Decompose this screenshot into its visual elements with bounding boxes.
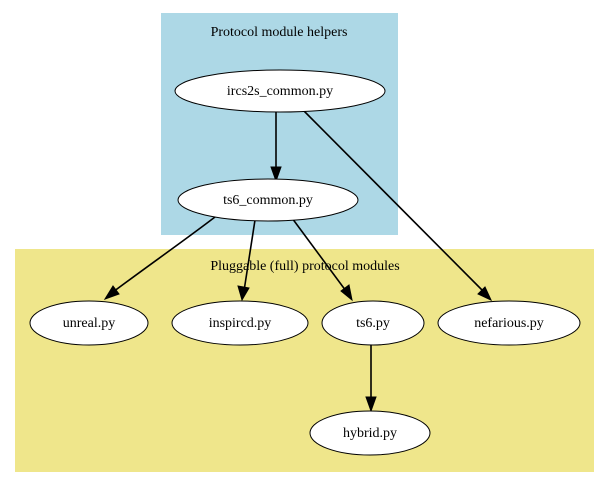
- node-ircs2s-common[interactable]: ircs2s_common.py: [175, 70, 385, 112]
- node-label: nefarious.py: [474, 316, 544, 331]
- protocol-module-graph: Protocol module helpers Pluggable (full)…: [0, 0, 609, 490]
- node-hybrid[interactable]: hybrid.py: [310, 411, 430, 455]
- node-label: unreal.py: [63, 316, 115, 331]
- node-unreal[interactable]: unreal.py: [30, 301, 148, 345]
- node-label: inspircd.py: [209, 316, 272, 331]
- cluster-pluggable-protocol-modules: Pluggable (full) protocol modules: [15, 249, 594, 472]
- node-label: ts6_common.py: [223, 193, 313, 208]
- cluster-helpers-label: Protocol module helpers: [211, 25, 348, 40]
- node-ts6-common[interactable]: ts6_common.py: [178, 179, 358, 221]
- cluster-pluggable-background: [15, 249, 594, 472]
- node-label: ircs2s_common.py: [227, 84, 333, 99]
- diagram-canvas: Protocol module helpers Pluggable (full)…: [0, 0, 609, 490]
- node-nefarious[interactable]: nefarious.py: [438, 301, 580, 345]
- cluster-pluggable-label: Pluggable (full) protocol modules: [210, 259, 399, 274]
- node-label: ts6.py: [356, 316, 390, 331]
- node-inspircd[interactable]: inspircd.py: [172, 301, 308, 345]
- node-label: hybrid.py: [343, 426, 397, 441]
- node-ts6[interactable]: ts6.py: [322, 301, 424, 345]
